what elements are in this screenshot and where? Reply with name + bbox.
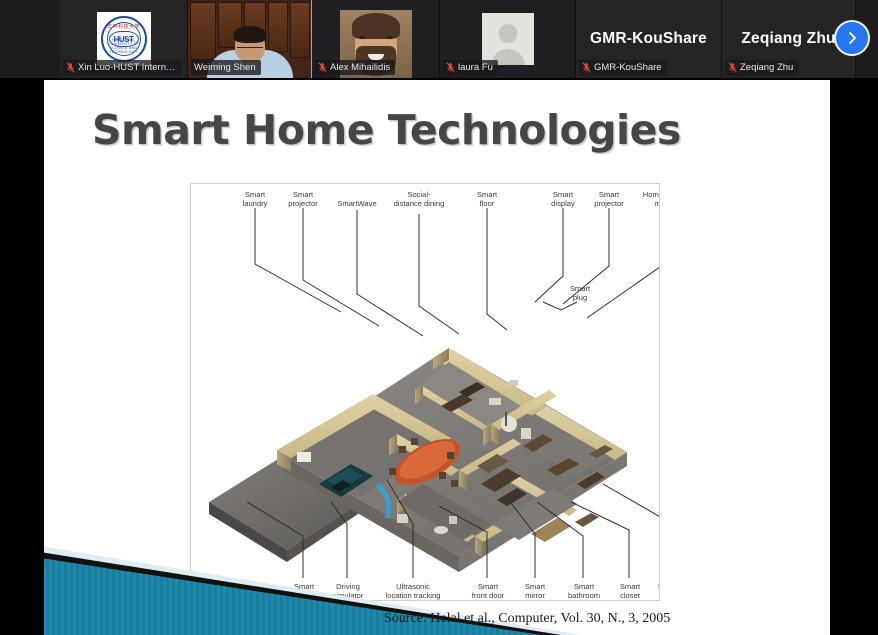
participant-tile-xin-luo[interactable]: 华中科技大学 HUST HUAZHONG UNIVERSITY OF SCIEN… (60, 0, 188, 78)
participant-name: GMR-KouShare (594, 61, 662, 74)
participant-name-chip: Xin Luo-HUST Internati... (63, 60, 182, 75)
participant-filmstrip: 华中科技大学 HUST HUAZHONG UNIVERSITY OF SCIEN… (0, 0, 878, 78)
participant-tile-weiming-shen[interactable]: Weiming Shen (188, 0, 312, 78)
participant-display-name: Zeqiang Zhu (741, 30, 835, 48)
zoom-screen-share-window: 华中科技大学 HUST HUAZHONG UNIVERSITY OF SCIEN… (0, 0, 878, 635)
figure-label-smart-plug: Smart plug (559, 284, 601, 302)
chevron-right-icon (844, 30, 860, 46)
microphone-muted-icon (582, 62, 591, 73)
smart-home-figure: Smart laundry Smart projector SmartWave … (190, 183, 660, 601)
hust-seal-top-text: 华中科技大学 (103, 23, 145, 30)
microphone-muted-icon (318, 62, 327, 73)
figure-label-smart-projector-right: Smart projector (579, 190, 639, 208)
hust-logo-card: 华中科技大学 HUST HUAZHONG UNIVERSITY OF SCIEN… (97, 12, 151, 66)
figure-label-home-security-monitor: Home security monitor (631, 190, 660, 208)
participant-name-chip: Zeqiang Zhu (725, 60, 798, 75)
microphone-muted-icon (446, 62, 455, 73)
avatar (482, 13, 534, 65)
figure-label-smart-floor: Smart floor (459, 190, 515, 208)
participant-tile-gmr-koushare[interactable]: GMR-KouShare GMR-KouShare (576, 0, 722, 78)
page-title: Smart Home Technologies (92, 106, 792, 154)
participant-name-chip: laura Fu (443, 60, 498, 75)
participant-name: Alex Mihailidis (330, 61, 390, 74)
filmstrip-left-padding (0, 0, 60, 78)
participant-name: Zeqiang Zhu (740, 61, 793, 74)
participant-name: Weiming Shen (194, 61, 256, 74)
source-citation: Source: Helal et al., Computer, Vol. 30,… (384, 611, 670, 627)
participant-tile-alex-mihailidis[interactable]: Alex Mihailidis (312, 0, 440, 78)
hust-seal-bottom-text: HUAZHONG UNIVERSITY OF SCIENCE AND TECHN… (103, 38, 145, 54)
participant-name: Xin Luo-HUST Internati... (78, 61, 177, 74)
participant-name-chip: GMR-KouShare (579, 60, 667, 75)
next-participants-button[interactable] (834, 20, 870, 56)
figure-label-social-distance-dining: Social- distance dining (375, 190, 463, 208)
participant-name-chip: Weiming Shen (191, 60, 261, 75)
participant-name: laura Fu (458, 61, 493, 74)
participant-name-chip: Alex Mihailidis (315, 60, 395, 75)
smart-home-isometric-illustration (191, 184, 660, 601)
figure-label-smart-bed: Smart bed (647, 582, 660, 600)
microphone-muted-icon (66, 62, 75, 73)
shared-slide: Smart Home Technologies (44, 80, 830, 635)
participant-tile-laura-fu[interactable]: laura Fu (440, 0, 576, 78)
microphone-muted-icon (728, 62, 737, 73)
participant-display-name: GMR-KouShare (590, 30, 707, 48)
figure-label-ultrasonic-location-tracking: Ultrasonic location tracking (369, 582, 457, 600)
person-glasses (237, 41, 263, 48)
hust-seal-icon: 华中科技大学 HUST HUAZHONG UNIVERSITY OF SCIEN… (101, 16, 147, 62)
